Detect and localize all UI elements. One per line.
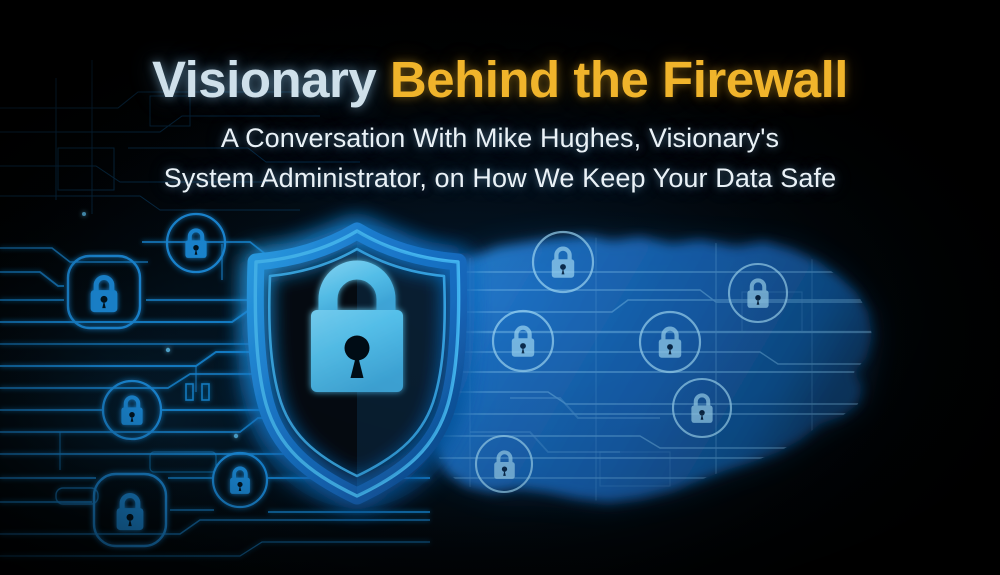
lock-badges-left	[68, 214, 267, 546]
shield-inner-line	[269, 249, 444, 476]
circuit-traces-dim	[0, 60, 360, 214]
text-block: Visionary Behind the Firewall A Conversa…	[0, 0, 1000, 575]
subtitle-line-1: A Conversation With Mike Hughes, Visiona…	[0, 123, 1000, 154]
security-banner: Visionary Behind the Firewall A Conversa…	[0, 0, 1000, 575]
subtitle-line-2: System Administrator, on How We Keep You…	[0, 163, 1000, 194]
padlock-rounded-square-badge	[68, 256, 140, 328]
vignette-overlay	[0, 0, 1000, 575]
padlock-circle-badge	[729, 264, 787, 322]
padlock-circle-badge	[533, 232, 593, 292]
padlock-rounded-square-badge	[94, 474, 166, 546]
shield-right-wash	[255, 231, 458, 496]
blob-body	[428, 236, 872, 502]
padlock-circle-badge	[167, 214, 225, 272]
headline-brand: Visionary	[152, 51, 376, 108]
padlock-circle-badge	[103, 381, 161, 439]
padlock-circle-badge	[640, 312, 700, 372]
shield-body-fill	[255, 231, 458, 496]
circuit-trace-lines	[0, 0, 1000, 575]
data-region-blob	[0, 0, 1000, 575]
padlock-circle-badge	[493, 311, 553, 371]
headline-accent: Behind the Firewall	[390, 51, 848, 108]
blob-circuit-traces	[424, 236, 880, 505]
shield-ambient-glow	[239, 224, 475, 508]
background-art	[0, 0, 1000, 575]
lock-badge-group	[0, 0, 1000, 575]
padlock-circle-badge	[673, 379, 731, 437]
shield-outer-rim	[255, 231, 458, 496]
padlock-circle-badge	[476, 436, 532, 492]
shield-padlock	[311, 270, 403, 392]
shield-rim-highlight	[255, 231, 458, 496]
padlock-circle-badge	[213, 453, 267, 507]
blob-outer-haze	[428, 239, 872, 502]
circuit-traces-bright	[0, 212, 430, 556]
lock-badges-blob	[476, 232, 787, 492]
shield-with-padlock-icon	[0, 0, 1000, 575]
page-title: Visionary Behind the Firewall	[0, 53, 1000, 107]
